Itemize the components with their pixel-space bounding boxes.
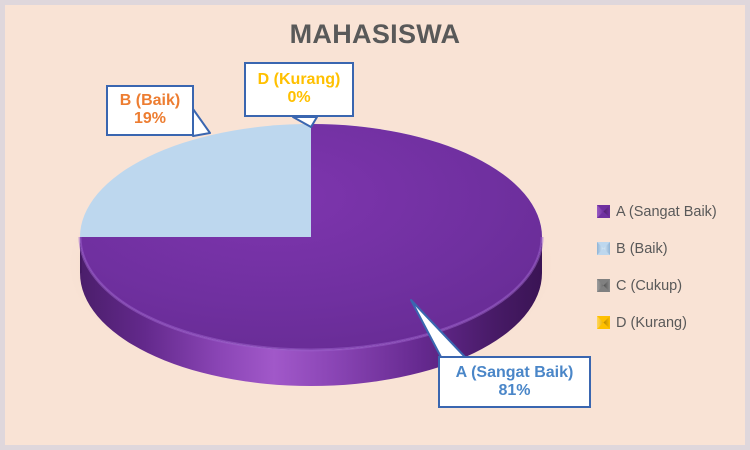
legend-swatch-gold-icon	[597, 316, 610, 329]
pie-chart-container: MAHASISWA	[0, 0, 750, 450]
data-label-a-name: A (Sangat Baik)	[446, 364, 583, 382]
data-label-d-name: D (Kurang)	[252, 71, 346, 89]
data-label-a[interactable]: A (Sangat Baik) 81%	[438, 356, 591, 408]
data-label-b[interactable]: B (Baik) 19%	[106, 85, 194, 136]
data-label-a-value: 81%	[446, 382, 583, 400]
data-label-b-name: B (Baik)	[114, 92, 186, 110]
legend-swatch-lightblue-icon	[597, 242, 610, 255]
data-label-d-value: 0%	[252, 89, 346, 107]
legend-item-d[interactable]: D (Kurang)	[597, 304, 747, 341]
legend-label-c: C (Cukup)	[616, 278, 682, 294]
legend-swatch-purple-icon	[597, 205, 610, 218]
chart-legend: A (Sangat Baik) B (Baik) C (Cukup)	[597, 193, 747, 341]
data-label-d[interactable]: D (Kurang) 0%	[244, 62, 354, 117]
legend-item-b[interactable]: B (Baik)	[597, 230, 747, 267]
legend-label-a: A (Sangat Baik)	[616, 204, 717, 220]
legend-item-a[interactable]: A (Sangat Baik)	[597, 193, 747, 230]
data-label-b-value: 19%	[114, 110, 186, 128]
legend-swatch-gray-icon	[597, 279, 610, 292]
legend-item-c[interactable]: C (Cukup)	[597, 267, 747, 304]
legend-label-d: D (Kurang)	[616, 315, 687, 331]
legend-label-b: B (Baik)	[616, 241, 668, 257]
callout-leader-b	[193, 109, 210, 136]
